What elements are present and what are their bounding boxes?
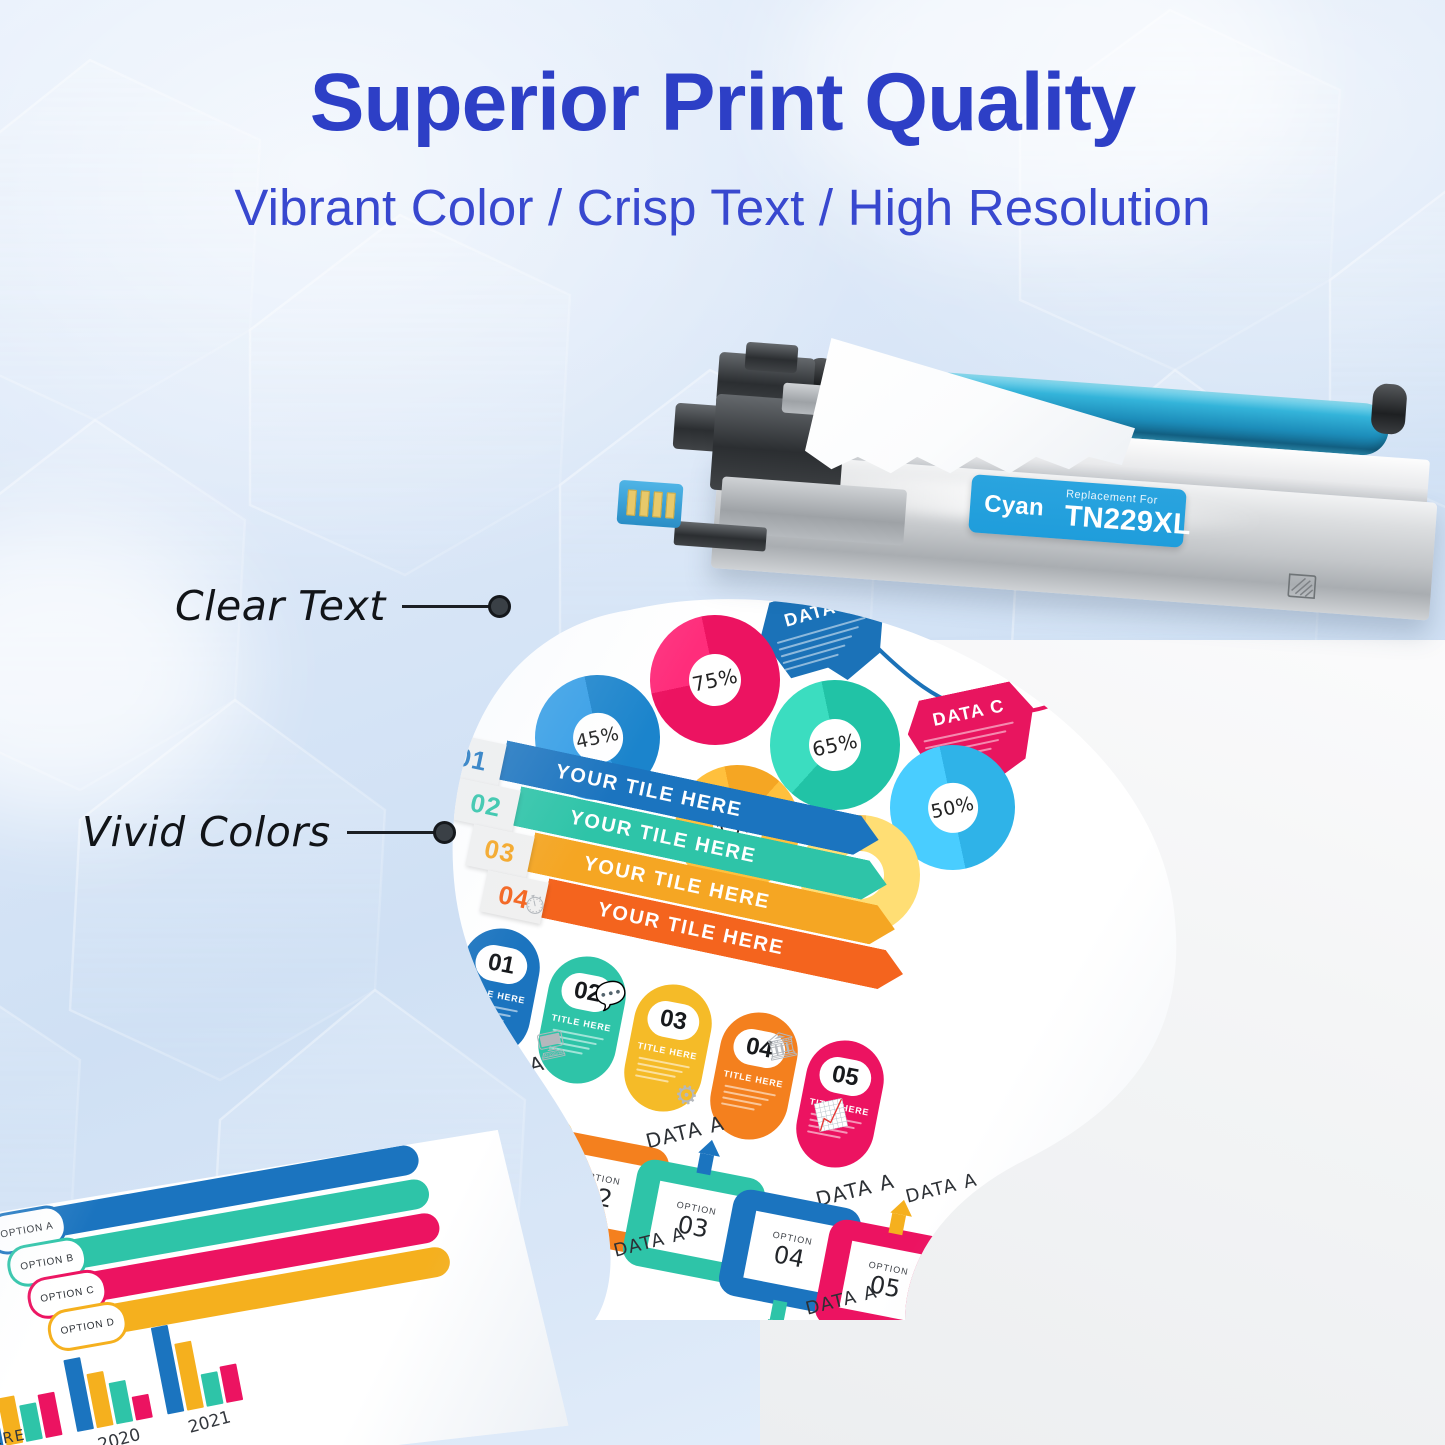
pill-number: 03 [644, 998, 702, 1043]
callout-label: Clear Text [175, 582, 386, 630]
decorative-icon-5: 📈 [812, 1097, 850, 1134]
pill-number: 05 [816, 1054, 874, 1099]
headline-block: Superior Print Quality Vibrant Color / C… [0, 62, 1445, 237]
callout-leader-line [347, 831, 435, 834]
page-title: Superior Print Quality [0, 62, 1445, 144]
decorative-icon-1: 💬 [592, 977, 630, 1014]
cartridge-model-block: Replacement For TN229XL [1052, 488, 1193, 540]
option-arrow-shaft [770, 1300, 788, 1320]
cartridge-model-code: TN229XL [1063, 502, 1192, 540]
bar-2020-Series4 [132, 1394, 153, 1421]
bar-2021-Series3 [201, 1371, 224, 1407]
chart-title: TITLE HERE [0, 1425, 27, 1445]
callout-dot [488, 595, 511, 618]
bar-2021-Series4 [219, 1363, 243, 1403]
toner-cartridge: DATA DATA [600, 330, 1445, 620]
option-arrow-04 [765, 1299, 789, 1320]
product-marketing-image: Superior Print Quality Vibrant Color / C… [0, 0, 1445, 1445]
page-subtitle: Vibrant Color / Crisp Text / High Resolu… [0, 178, 1445, 237]
cartridge-grip-icon [1284, 564, 1320, 600]
callout-leader-line [402, 605, 490, 608]
callout-vivid-colors: Vivid Colors [82, 808, 456, 856]
drum-end-cap-right [1370, 383, 1408, 435]
memory-chip [616, 480, 683, 529]
year-label-2020: 2020 [96, 1425, 143, 1445]
year-label-2021: 2021 [186, 1407, 233, 1438]
callout-dot [433, 821, 456, 844]
option-arrow-shaft [696, 1153, 714, 1175]
cartridge-drive-gear [745, 342, 799, 374]
cartridge-color-name: Cyan [969, 489, 1055, 523]
callout-clear-text: Clear Text [175, 582, 511, 630]
option-number: 04 [771, 1240, 806, 1273]
bar-2020-Series1 [63, 1357, 94, 1432]
callout-label: Vivid Colors [82, 808, 331, 856]
option-arrow-shaft [888, 1213, 906, 1235]
pill-textlines [720, 1085, 778, 1119]
